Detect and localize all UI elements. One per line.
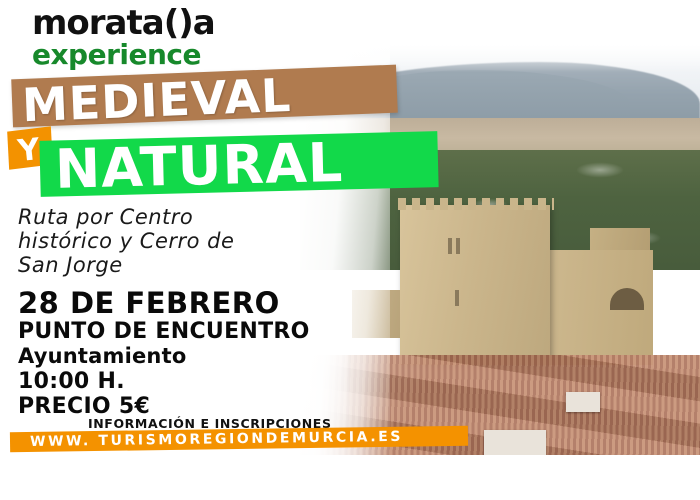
brand-name: morata()a	[32, 6, 215, 40]
castle-arrow-slit	[455, 290, 459, 306]
castle-tower	[400, 205, 550, 365]
castle-crenellations	[398, 198, 554, 210]
brand-tagline: experience	[32, 41, 215, 69]
event-date: 28 DE FEBRERO	[18, 288, 310, 319]
headline-connector: Y	[16, 132, 41, 169]
castle-arrow-slit	[448, 238, 452, 254]
footer-bar: Ayuntamiento de Moratalla morata()a turi…	[0, 455, 700, 500]
headline-natural: NATURAL	[54, 132, 455, 198]
event-time: 10:00 H.	[18, 369, 310, 394]
brand-logo: morata()a experience	[32, 6, 215, 69]
route-line-1: Ruta por Centro	[18, 205, 338, 229]
poster-root: morata()a experience MEDIEVAL Y NATURAL …	[0, 0, 700, 500]
route-line-3: San Jorge	[18, 253, 338, 277]
meeting-point-place: Ayuntamiento	[18, 344, 310, 369]
meeting-point-label: PUNTO DE ENCUENTRO	[18, 319, 310, 344]
route-line-2: histórico y Cerro de	[18, 229, 338, 253]
rooftop-building	[566, 392, 600, 412]
route-description: Ruta por Centro histórico y Cerro de San…	[18, 205, 338, 277]
castle-arrow-slit	[456, 238, 460, 254]
event-details: 28 DE FEBRERO PUNTO DE ENCUENTRO Ayuntam…	[18, 288, 310, 419]
